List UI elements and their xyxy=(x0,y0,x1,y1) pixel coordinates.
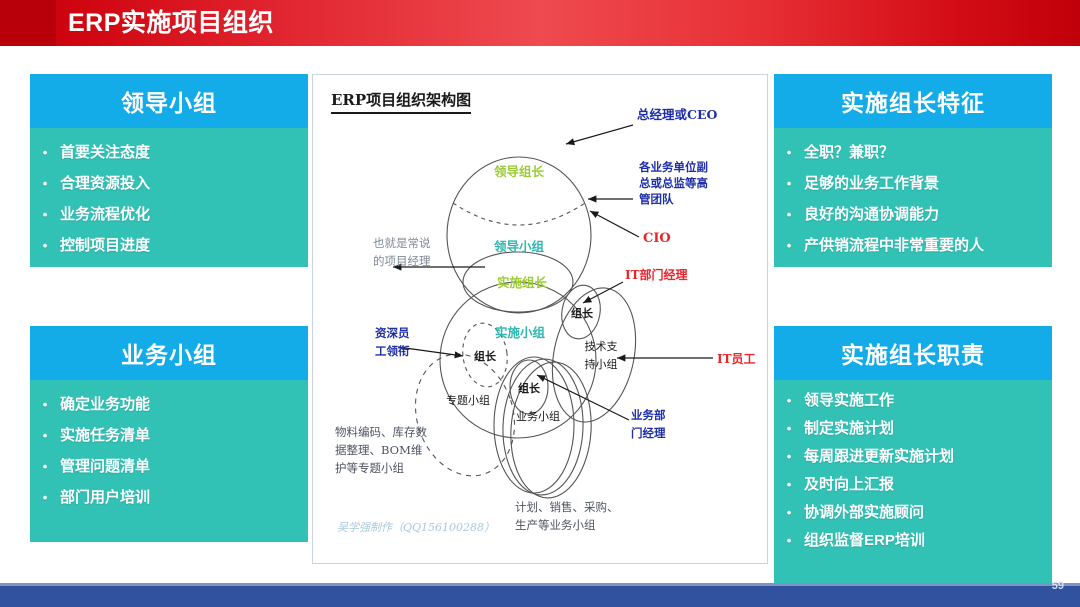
list-item: • 确定业务功能 xyxy=(30,394,308,416)
note-business-line1: 计划、销售、采购、 xyxy=(515,500,619,514)
card-leader-duties-title: 实施组长职责 xyxy=(774,326,1052,380)
note-topic-line1: 物料编码、库存数 xyxy=(335,425,427,439)
label-tech-support-line1: 技术支 xyxy=(585,340,618,353)
list-item-label: 确定业务功能 xyxy=(60,394,150,416)
card-leader-duties-body: • 领导实施工作 • 制定实施计划 • 每周跟进更新实施计划 • 及时向上汇报 … xyxy=(774,380,1052,590)
list-item: • 首要关注态度 xyxy=(30,142,308,164)
list-item-label: 领导实施工作 xyxy=(804,390,894,412)
list-item: • 控制项目进度 xyxy=(30,235,308,257)
list-item-label: 实施任务清单 xyxy=(60,425,150,447)
annotation-pm-line2: 的项目经理 xyxy=(373,254,431,268)
leading-leader-divider xyxy=(453,203,585,225)
annotation-exec-team-line3: 管团队 xyxy=(639,192,674,206)
annotation-senior-line1: 资深员 xyxy=(375,326,410,340)
label-leading-leader: 领导组长 xyxy=(494,164,545,179)
annotation-business-manager-line1: 业务部 xyxy=(631,408,666,422)
label-leading-group: 领导小组 xyxy=(494,239,545,254)
label-impl-leader: 实施组长 xyxy=(497,275,548,290)
bullet-icon: • xyxy=(774,390,804,412)
list-item: • 实施任务清单 xyxy=(30,425,308,447)
note-topic-line3: 护等专题小组 xyxy=(335,461,404,475)
list-item-label: 产供销流程中非常重要的人 xyxy=(804,235,984,257)
annotation-it-manager: IT部门经理 xyxy=(625,267,688,282)
bullet-icon: • xyxy=(30,204,60,226)
list-item: • 制定实施计划 xyxy=(774,418,1052,440)
watermark-text: 吴学强制作（QQ156100288） xyxy=(337,519,495,535)
label-business-group: 业务小组 xyxy=(516,409,560,423)
card-leading-group-body: • 首要关注态度 • 合理资源投入 • 业务流程优化 • 控制项目进度 xyxy=(30,128,308,267)
bullet-icon: • xyxy=(30,456,60,478)
card-leading-group-title: 领导小组 xyxy=(30,74,308,128)
annotation-senior-line2: 工领衔 xyxy=(375,344,410,358)
list-item: • 合理资源投入 xyxy=(30,173,308,195)
list-item-label: 制定实施计划 xyxy=(804,418,894,440)
card-leader-traits: 实施组长特征 • 全职？兼职？ • 足够的业务工作背景 • 良好的沟通协调能力 … xyxy=(774,74,1052,267)
list-item-label: 管理问题清单 xyxy=(60,456,150,478)
business-group-ellipse-3 xyxy=(506,359,595,500)
bullet-icon: • xyxy=(30,425,60,447)
list-item-label: 良好的沟通协调能力 xyxy=(804,204,939,226)
arrow-ceo xyxy=(566,125,633,144)
list-item: • 良好的沟通协调能力 xyxy=(774,204,1052,226)
list-item-label: 全职？兼职？ xyxy=(804,142,894,164)
label-group-leader-right: 组长 xyxy=(571,306,594,320)
annotation-cio: CIO xyxy=(643,231,671,246)
annotation-exec-team-line2: 总或总监等高 xyxy=(639,176,708,190)
list-item-label: 合理资源投入 xyxy=(60,173,150,195)
list-item-label: 组织监督ERP培训 xyxy=(804,530,925,552)
card-leader-duties: 实施组长职责 • 领导实施工作 • 制定实施计划 • 每周跟进更新实施计划 • … xyxy=(774,326,1052,590)
org-chart-panel: ERP项目组织架构图 xyxy=(312,74,768,564)
annotation-pm-line1: 也就是常说 xyxy=(373,236,431,250)
card-leader-traits-title: 实施组长特征 xyxy=(774,74,1052,128)
bullet-icon: • xyxy=(774,530,804,552)
list-item: • 部门用户培训 xyxy=(30,487,308,509)
bullet-icon: • xyxy=(30,173,60,195)
card-leading-group: 领导小组 • 首要关注态度 • 合理资源投入 • 业务流程优化 • 控制项目进度 xyxy=(30,74,308,267)
list-item: • 每周跟进更新实施计划 xyxy=(774,446,1052,468)
list-item: • 全职？兼职？ xyxy=(774,142,1052,164)
label-tech-support-line2: 持小组 xyxy=(585,357,618,371)
bullet-icon: • xyxy=(30,487,60,509)
topic-group-ellipse xyxy=(400,341,530,489)
bullet-icon: • xyxy=(30,394,60,416)
bullet-icon: • xyxy=(774,204,804,226)
list-item-label: 控制项目进度 xyxy=(60,235,150,257)
list-item: • 及时向上汇报 xyxy=(774,474,1052,496)
title-accent-block xyxy=(0,0,56,46)
footer-bar xyxy=(0,586,1080,607)
list-item: • 产供销流程中非常重要的人 xyxy=(774,235,1052,257)
list-item-label: 协调外部实施顾问 xyxy=(804,502,924,524)
list-item-label: 及时向上汇报 xyxy=(804,474,894,496)
list-item-label: 部门用户培训 xyxy=(60,487,150,509)
list-item: • 业务流程优化 xyxy=(30,204,308,226)
arrow-cio xyxy=(590,211,639,237)
page-title: ERP实施项目组织 xyxy=(68,6,274,40)
card-business-group-body: • 确定业务功能 • 实施任务清单 • 管理问题清单 • 部门用户培训 xyxy=(30,380,308,542)
annotation-exec-team-line1: 各业务单位副 xyxy=(638,160,708,174)
annotation-business-manager-line2: 门经理 xyxy=(631,426,666,440)
label-group-leader-left: 组长 xyxy=(474,349,497,363)
bullet-icon: • xyxy=(774,142,804,164)
list-item: • 领导实施工作 xyxy=(774,390,1052,412)
list-item: • 管理问题清单 xyxy=(30,456,308,478)
note-business-line2: 生产等业务小组 xyxy=(515,518,596,532)
bullet-icon: • xyxy=(774,235,804,257)
list-item-label: 首要关注态度 xyxy=(60,142,150,164)
title-underline xyxy=(0,46,1080,49)
bullet-icon: • xyxy=(774,446,804,468)
bullet-icon: • xyxy=(30,235,60,257)
list-item: • 组织监督ERP培训 xyxy=(774,530,1052,552)
bullet-icon: • xyxy=(774,418,804,440)
label-topic-group: 专题小组 xyxy=(446,393,490,407)
annotation-ceo: 总经理或CEO xyxy=(637,107,717,122)
list-item-label: 业务流程优化 xyxy=(60,204,150,226)
label-impl-group: 实施小组 xyxy=(495,325,546,340)
label-group-leader-bottom: 组长 xyxy=(518,381,541,395)
card-business-group: 业务小组 • 确定业务功能 • 实施任务清单 • 管理问题清单 • 部门用户培训 xyxy=(30,326,308,542)
org-chart-drawing: 领导组长 领导小组 实施组长 实施小组 组长 组长 组长 专题小组 业务小组 技… xyxy=(313,75,767,563)
page-number: 59 xyxy=(1052,580,1064,592)
bullet-icon: • xyxy=(774,502,804,524)
bullet-icon: • xyxy=(30,142,60,164)
note-topic-line2: 据整理、BOM维 xyxy=(335,443,422,457)
bullet-icon: • xyxy=(774,474,804,496)
list-item-label: 每周跟进更新实施计划 xyxy=(804,446,954,468)
list-item: • 协调外部实施顾问 xyxy=(774,502,1052,524)
bullet-icon: • xyxy=(774,173,804,195)
list-item-label: 足够的业务工作背景 xyxy=(804,173,939,195)
annotation-it-staff: IT员工 xyxy=(717,352,756,366)
card-business-group-title: 业务小组 xyxy=(30,326,308,380)
card-leader-traits-body: • 全职？兼职？ • 足够的业务工作背景 • 良好的沟通协调能力 • 产供销流程… xyxy=(774,128,1052,267)
list-item: • 足够的业务工作背景 xyxy=(774,173,1052,195)
